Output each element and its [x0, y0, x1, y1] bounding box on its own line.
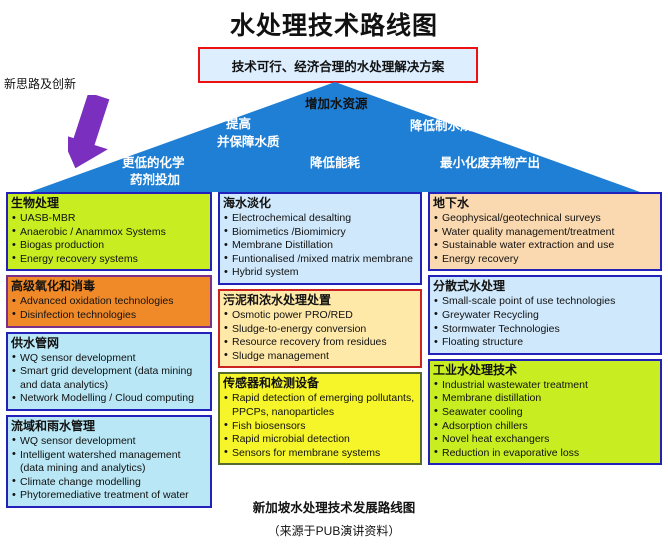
pyramid-label-improve-2: 并保障水质: [217, 131, 280, 150]
pyramid-label-minimize-waste: 最小化废弃物产出: [440, 152, 540, 171]
topic-card: 海水淡化Electrochemical desaltingBiomimetics…: [218, 192, 422, 285]
list-item: Electrochemical desalting: [223, 212, 417, 226]
topic-card: 污泥和浓水处理处置Osmotic power PRO/REDSludge-to-…: [218, 289, 422, 368]
list-item: Reduction in evaporative loss: [433, 447, 657, 461]
list-item: UASB-MBR: [11, 212, 207, 226]
topic-card-list: WQ sensor developmentIntelligent watersh…: [11, 435, 207, 503]
list-item: Funtionalised /mixed matrix membrane: [223, 253, 417, 267]
topic-card-list: UASB-MBRAnaerobic / Anammox SystemsBioga…: [11, 212, 207, 266]
topic-card: 供水管网WQ sensor developmentSmart grid deve…: [6, 332, 212, 411]
list-item: Small-scale point of use technologies: [433, 295, 657, 309]
topic-card-list: Small-scale point of use technologiesGre…: [433, 295, 657, 349]
list-item: Sensors for membrane systems: [223, 447, 417, 461]
list-item: Osmotic power PRO/RED: [223, 309, 417, 323]
list-item: Smart grid development (data mining and …: [11, 365, 207, 392]
list-item: Network Modelling / Cloud computing: [11, 392, 207, 406]
topic-card: 流域和雨水管理WQ sensor developmentIntelligent …: [6, 415, 212, 508]
pyramid-label-increase-water: 增加水资源: [305, 93, 368, 112]
list-item: Rapid detection of emerging pollutants, …: [223, 392, 417, 419]
topic-card-list: Industrial wastewater treatmentMembrane …: [433, 379, 657, 461]
list-item: Sustainable water extraction and use: [433, 239, 657, 253]
list-item: Energy recovery systems: [11, 253, 207, 267]
list-item: Rapid microbial detection: [223, 433, 417, 447]
list-item: Fish biosensors: [223, 420, 417, 434]
list-item: Novel heat exchangers: [433, 433, 657, 447]
topic-card-title: 污泥和浓水处理处置: [223, 293, 417, 308]
topic-card: 分散式水处理Small-scale point of use technolog…: [428, 275, 662, 354]
topic-card: 高级氧化和消毒Advanced oxidation technologiesDi…: [6, 275, 212, 327]
list-item: Membrane Distillation: [223, 239, 417, 253]
list-item: Stormwater Technologies: [433, 323, 657, 337]
list-item: Adsorption chillers: [433, 420, 657, 434]
column-left: 生物处理UASB-MBRAnaerobic / Anammox SystemsB…: [6, 192, 212, 512]
goal-box: 技术可行、经济合理的水处理解决方案: [198, 47, 478, 83]
caption-source: （来源于PUB演讲资料）: [0, 522, 668, 539]
topic-card-list: Advanced oxidation technologiesDisinfect…: [11, 295, 207, 322]
list-item: Advanced oxidation technologies: [11, 295, 207, 309]
topic-card-list: Osmotic power PRO/REDSludge-to-energy co…: [223, 309, 417, 363]
column-middle: 海水淡化Electrochemical desaltingBiomimetics…: [218, 192, 422, 469]
list-item: Resource recovery from residues: [223, 336, 417, 350]
list-item: Geophysical/geotechnical surveys: [433, 212, 657, 226]
list-item: Seawater cooling: [433, 406, 657, 420]
topic-card-title: 高级氧化和消毒: [11, 279, 207, 294]
topic-card-title: 传感器和检测设备: [223, 376, 417, 391]
list-item: Sludge management: [223, 350, 417, 364]
topic-card-list: Electrochemical desaltingBiomimetics /Bi…: [223, 212, 417, 280]
list-item: WQ sensor development: [11, 352, 207, 366]
pyramid-label-lower-energy: 降低能耗: [310, 152, 360, 171]
topic-card-title: 分散式水处理: [433, 279, 657, 294]
topic-card-title: 流域和雨水管理: [11, 419, 207, 434]
list-item: Hybrid system: [223, 266, 417, 280]
topic-card: 地下水Geophysical/geotechnical surveysWater…: [428, 192, 662, 271]
topic-card-title: 供水管网: [11, 336, 207, 351]
list-item: Floating structure: [433, 336, 657, 350]
topic-card-list: WQ sensor developmentSmart grid developm…: [11, 352, 207, 406]
page-title: 水处理技术路线图: [0, 6, 668, 42]
topic-card: 传感器和检测设备Rapid detection of emerging poll…: [218, 372, 422, 465]
topic-card-title: 海水淡化: [223, 196, 417, 211]
list-item: Anaerobic / Anammox Systems: [11, 226, 207, 240]
pyramid-label-chemical-2: 药剂投加: [130, 169, 180, 188]
list-item: Intelligent watershed management (data m…: [11, 449, 207, 476]
list-item: Water quality management/treatment: [433, 226, 657, 240]
topic-card-title: 地下水: [433, 196, 657, 211]
list-item: Biomimetics /Biomimicry: [223, 226, 417, 240]
list-item: Greywater Recycling: [433, 309, 657, 323]
topic-card-list: Rapid detection of emerging pollutants, …: [223, 392, 417, 460]
list-item: Energy recovery: [433, 253, 657, 267]
pyramid-label-improve-1: 提高: [226, 113, 251, 132]
topic-card: 生物处理UASB-MBRAnaerobic / Anammox SystemsB…: [6, 192, 212, 271]
list-item: Biogas production: [11, 239, 207, 253]
pyramid-label-lower-cost: 降低制水成本: [410, 115, 485, 134]
topic-card: 工业水处理技术Industrial wastewater treatmentMe…: [428, 359, 662, 466]
list-item: Industrial wastewater treatment: [433, 379, 657, 393]
list-item: Membrane distillation: [433, 392, 657, 406]
topic-card-title: 生物处理: [11, 196, 207, 211]
topic-card-title: 工业水处理技术: [433, 363, 657, 378]
caption-primary: 新加坡水处理技术发展路线图: [0, 497, 668, 516]
list-item: WQ sensor development: [11, 435, 207, 449]
column-right: 地下水Geophysical/geotechnical surveysWater…: [428, 192, 662, 469]
list-item: Sludge-to-energy conversion: [223, 323, 417, 337]
list-item: Climate change modelling: [11, 476, 207, 490]
list-item: Disinfection technologies: [11, 309, 207, 323]
topic-card-list: Geophysical/geotechnical surveysWater qu…: [433, 212, 657, 266]
